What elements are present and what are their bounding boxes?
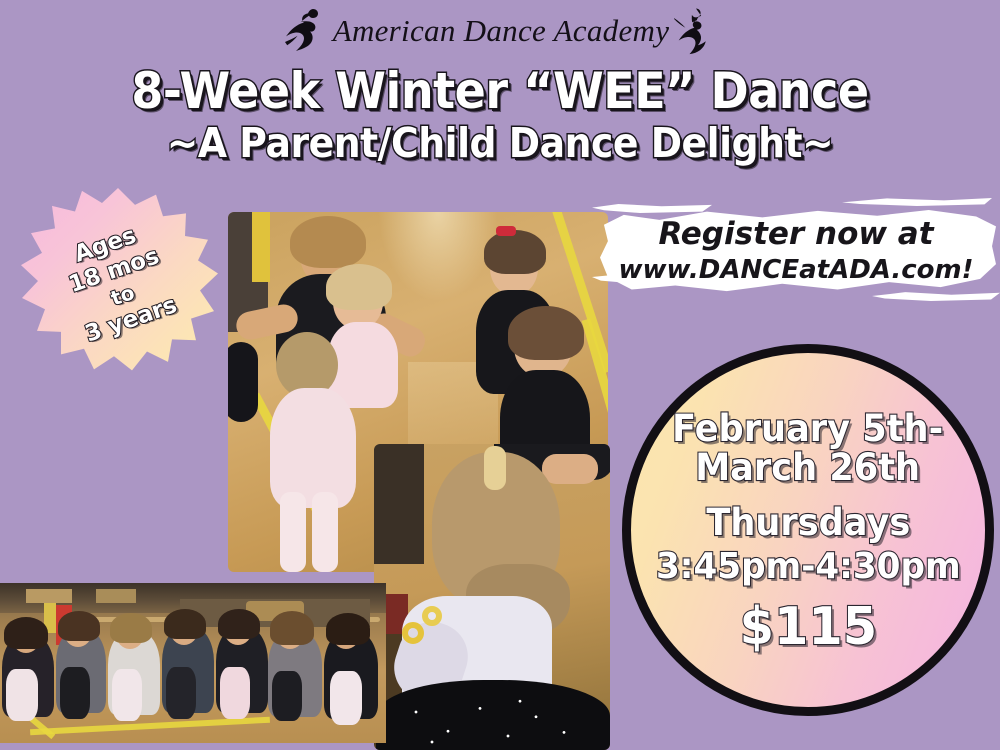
photo-toddler-tutu <box>374 444 610 750</box>
academy-logo: American Dance Academy <box>0 0 1000 62</box>
class-day: Thursdays <box>706 503 910 542</box>
register-text-group: Register now at www.DANCEatADA.com! <box>592 196 1000 304</box>
ages-text-group: Ages 18 mos to 3 years <box>0 161 243 404</box>
class-price: $115 <box>739 600 876 655</box>
photo-parents-group <box>0 583 386 743</box>
register-website-link[interactable]: www.DANCEatADA.com! <box>619 255 974 285</box>
title-line-2: ~A Parent/Child Dance Delight~ <box>40 123 960 165</box>
logo-text: American Dance Academy <box>333 13 670 49</box>
class-time: 3:45pm-4:30pm <box>656 548 961 586</box>
dancer-silhouette-icon <box>671 6 717 56</box>
class-dates-line-1: February 5th- <box>672 409 943 448</box>
ages-starburst-badge: Ages 18 mos to 3 years <box>18 188 218 376</box>
dancer-silhouette-icon <box>283 6 331 56</box>
class-details-badge: February 5th- March 26th Thursdays 3:45p… <box>622 344 994 716</box>
register-banner: Register now at www.DANCEatADA.com! <box>592 196 1000 304</box>
flyer-canvas: American Dance Academy 8-Week Winter “WE… <box>0 0 1000 750</box>
page-title: 8-Week Winter “WEE” Dance ~A Parent/Chil… <box>0 66 1000 165</box>
class-dates-line-2: March 26th <box>672 448 943 487</box>
class-dates: February 5th- March 26th <box>672 409 943 487</box>
register-heading: Register now at <box>658 216 933 252</box>
title-line-1: 8-Week Winter “WEE” Dance <box>40 66 960 117</box>
